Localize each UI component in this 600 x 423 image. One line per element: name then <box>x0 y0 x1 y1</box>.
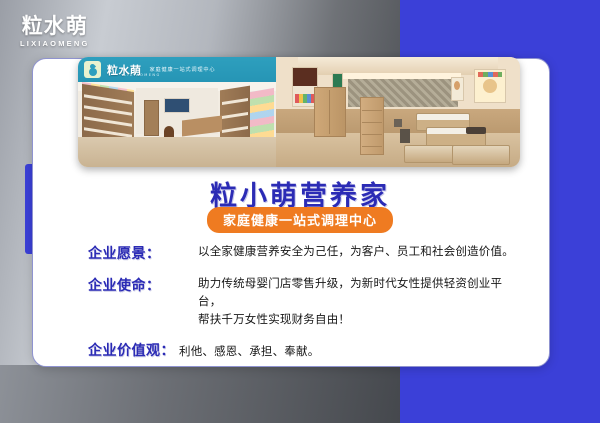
mission-line: 助力传统母婴门店零售升级，为新时代女性提供轻资创业平台， <box>198 275 518 311</box>
store-floor <box>78 137 276 167</box>
seed-drop-icon <box>84 61 101 78</box>
shelf-row <box>222 126 248 133</box>
mission-row: 企业使命： 助力传统母婴门店零售升级，为新时代女性提供轻资创业平台， 帮扶千万女… <box>88 275 518 328</box>
spa-side-table <box>466 127 486 134</box>
info-rows: 企业愿景： 以全家健康营养安全为己任，为客户、员工和社会创造价值。 企业使命： … <box>88 243 518 373</box>
slide-canvas: 粒水萌 LIXIAOMENG <box>0 0 600 423</box>
mission-line: 帮扶千万女性实现财务自由！ <box>198 311 518 329</box>
store-wall-screen <box>164 98 190 113</box>
vision-row: 企业愿景： 以全家健康营养安全为己任，为客户、员工和社会创造价值。 <box>88 243 518 263</box>
store-interior-photo: 粒水萌 LIXIAOMENG 家庭健康一站式调理中心 <box>78 57 276 167</box>
treatment-room-photo <box>276 57 520 167</box>
shelf-row <box>84 94 132 105</box>
brand-logo-en: LIXIAOMENG <box>20 40 90 48</box>
spa-poster-right <box>474 69 506 103</box>
shelf-row <box>84 116 132 127</box>
signboard-tagline: 家庭健康一站式调理中心 <box>150 66 216 73</box>
vision-line: 以全家健康营养安全为己任，为客户、员工和社会创造价值。 <box>198 243 514 261</box>
shelf-row <box>84 105 132 116</box>
mission-text: 助力传统母婴门店零售升级，为新时代女性提供轻资创业平台， 帮扶千万女性实现财务自… <box>198 275 518 328</box>
spa-poster-figure <box>451 77 464 101</box>
mission-label: 企业使命： <box>88 275 192 295</box>
values-label: 企业价值观： <box>88 340 175 360</box>
bottom-gray-strip <box>0 365 400 423</box>
vision-text: 以全家健康营养安全为己任，为客户、员工和社会创造价值。 <box>198 243 514 261</box>
spa-cabinet <box>314 87 346 137</box>
values-row: 企业价值观： 利他、感恩、承担、奉献。 <box>88 340 518 361</box>
photo-strip: 粒水萌 LIXIAOMENG 家庭健康一站式调理中心 <box>78 57 520 167</box>
store-room <box>78 82 276 167</box>
vision-label: 企业愿景： <box>88 243 192 263</box>
store-door <box>144 100 159 136</box>
spa-bin <box>400 129 410 143</box>
signboard-brand-en: LIXIAOMENG <box>124 73 161 77</box>
brand-logo: 粒水萌 LIXIAOMENG <box>20 16 90 48</box>
values-line: 利他、感恩、承担、奉献。 <box>179 343 319 361</box>
shelf-row <box>222 98 248 105</box>
store-right-color-wall <box>250 88 274 144</box>
subtitle-badge: 家庭健康一站式调理中心 <box>207 207 393 233</box>
store-signboard: 粒水萌 LIXIAOMENG 家庭健康一站式调理中心 <box>78 57 276 82</box>
spa-stool <box>394 119 402 127</box>
spa-bench <box>452 145 510 165</box>
brand-logo-cn: 粒水萌 <box>20 16 90 37</box>
values-text: 利他、感恩、承担、奉献。 <box>179 343 319 361</box>
shelf-row <box>222 112 248 119</box>
spa-shelf-divider <box>360 97 384 155</box>
